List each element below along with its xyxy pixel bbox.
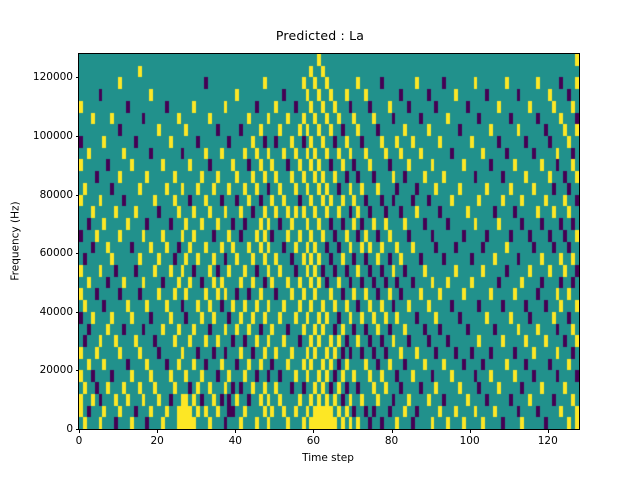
y-tick-mark (76, 77, 80, 78)
x-tick-label: 20 (150, 435, 163, 447)
y-tick-mark (76, 195, 80, 196)
x-tick-mark (313, 429, 314, 433)
y-tick-label: 100000 (33, 130, 73, 142)
heatmap-canvas (79, 54, 579, 429)
x-tick-label: 40 (229, 435, 242, 447)
y-axis-label-text: Frequency (Hz) (10, 201, 22, 280)
matplotlib-figure: Predicted : La Frequency (Hz) 0200004000… (0, 0, 640, 480)
y-tick-mark (76, 136, 80, 137)
y-tick-label: 0 (66, 423, 73, 435)
x-tick-label: 80 (385, 435, 398, 447)
y-tick-label: 80000 (40, 189, 73, 201)
y-axis-label: Frequency (Hz) (9, 53, 23, 428)
x-tick-label: 0 (76, 435, 83, 447)
y-tick-mark (76, 312, 80, 313)
y-tick-label: 120000 (33, 71, 73, 83)
x-tick-label: 60 (307, 435, 320, 447)
x-axis-label: Time step (78, 452, 578, 464)
y-tick-mark (76, 253, 80, 254)
x-tick-mark (470, 429, 471, 433)
page-title: Predicted : La (0, 28, 640, 43)
x-tick-mark (392, 429, 393, 433)
y-tick-label: 60000 (40, 247, 73, 259)
x-tick-label: 120 (538, 435, 558, 447)
x-tick-mark (235, 429, 236, 433)
x-tick-mark (157, 429, 158, 433)
y-tick-label: 20000 (40, 364, 73, 376)
x-tick-mark (79, 429, 80, 433)
x-tick-mark (548, 429, 549, 433)
x-tick-label: 100 (460, 435, 480, 447)
heatmap-axes: 020000400006000080000100000120000 020406… (78, 53, 580, 430)
y-tick-mark (76, 370, 80, 371)
y-tick-label: 40000 (40, 306, 73, 318)
